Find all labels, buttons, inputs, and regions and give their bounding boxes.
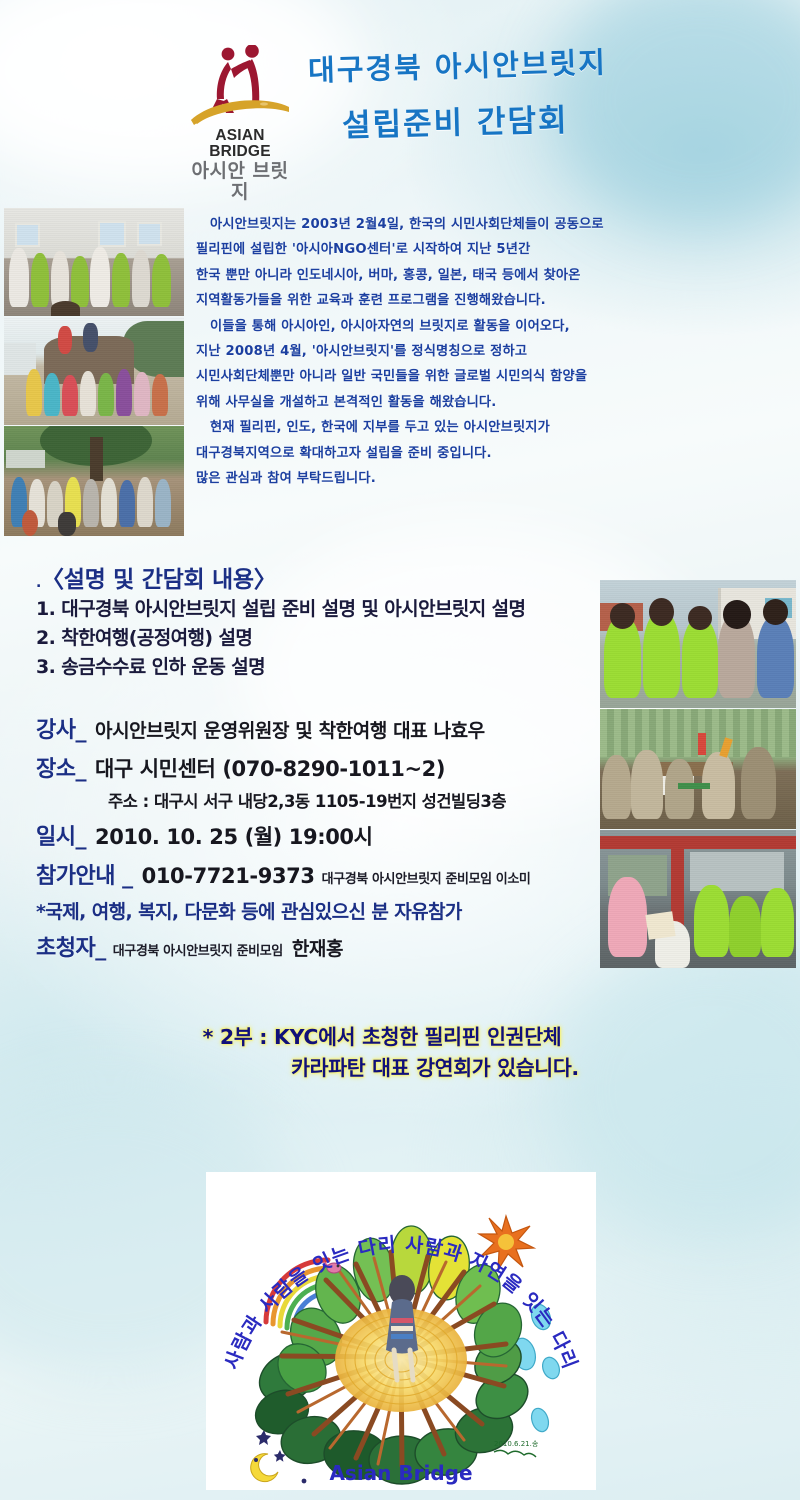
intro-line: 지역활동가들을 위한 교육과 훈련 프로그램을 진행해왔습니다. xyxy=(196,288,796,313)
poster-root: ASIAN BRIDGE 아시안 브릿지 대구경북 아시안브릿지 설립준비 간담… xyxy=(0,0,800,1500)
inviter-name: 한재홍 xyxy=(292,934,343,961)
detail-row-inviter: 초청자_ 대구경북 아시안브릿지 준비모임 한재홍 xyxy=(36,930,606,962)
heading-text: 〈설명 및 간담회 내용〉 xyxy=(41,567,276,593)
intro-line: 시민사회단체뿐만 아니라 일반 국민들을 위한 글로벌 시민의식 함양을 xyxy=(196,364,796,389)
photo-children-smiling-green-shirts xyxy=(600,580,796,708)
datetime-value: 2010. 10. 25 (월) 19:00시 xyxy=(95,821,373,851)
intro-line: 많은 관심과 참여 부탁드립니다. xyxy=(196,466,796,491)
asian-bridge-logo: ASIAN BRIDGE 아시안 브릿지 xyxy=(186,45,294,173)
venue-label: 장소_ xyxy=(36,751,86,783)
detail-row-venue: 장소_ 대구 시민센터 (070-8290-1011~2) xyxy=(36,751,606,783)
poster-header: ASIAN BRIDGE 아시안 브릿지 대구경북 아시안브릿지 설립준비 간담… xyxy=(0,36,800,176)
event-details: 강사_ 아시안브릿지 운영위원장 및 착한여행 대표 나효우 장소_ 대구 시민… xyxy=(36,712,606,969)
program-item: 3. 송금수수료 인하 운동 설명 xyxy=(36,654,596,681)
detail-row-speaker: 강사_ 아시안브릿지 운영위원장 및 착한여행 대표 나효우 xyxy=(36,712,606,744)
intro-line: 아시안브릿지는 2003년 2월4일, 한국의 시민사회단체들이 공동으로 xyxy=(196,212,796,237)
photo-group-indoor-hands-up xyxy=(4,208,184,316)
venue-value: 대구 시민센터 (070-8290-1011~2) xyxy=(95,753,445,783)
intro-line: 지난 2008년 4월, '아시안브릿지'를 정식명칭으로 정하고 xyxy=(196,339,796,364)
inviter-label: 초청자_ xyxy=(36,930,106,962)
title-line-2: 설립준비 간담회 xyxy=(300,91,721,146)
intro-line: 대구경북지역으로 확대하고자 설립을 준비 중입니다. xyxy=(196,441,796,466)
participation-contact: 대구경북 아시안브릿지 준비모임 이소미 xyxy=(322,868,531,887)
open-participation-notice: *국제, 여행, 복지, 다문화 등에 관심있으신 분 자유참가 xyxy=(36,897,606,924)
asian-bridge-logo-icon xyxy=(186,45,294,127)
intro-line: 필리핀에 설립한 '아시아NGO센터'로 시작하여 지난 5년간 xyxy=(196,237,796,262)
logo-korean-name: 아시안 브릿지 xyxy=(186,161,294,203)
photo-group-under-tree xyxy=(4,426,184,536)
program-item: 2. 착한여행(공정여행) 설명 xyxy=(36,625,596,652)
illustration-bottom-text: Asian Bridge xyxy=(329,1461,472,1485)
title-line-1: 대구경북 아시안브릿지 xyxy=(299,36,720,90)
datetime-label: 일시_ xyxy=(36,819,86,851)
intro-paragraph: 아시안브릿지는 2003년 2월4일, 한국의 시민사회단체들이 공동으로 필리… xyxy=(196,212,796,491)
part-two-notice: * 2부 : KYC에서 초청한 필리핀 인권단체 카라파탄 대표 강연회가 있… xyxy=(0,1022,800,1084)
logo-english-name: ASIAN BRIDGE xyxy=(186,128,294,159)
participation-phone: 010-7721-9373 xyxy=(142,864,315,888)
asian-bridge-illustration: 2010.6.21.송 사람과 사람을 잇는 다리 사람과 자연을 잇는 다리 … xyxy=(206,1172,596,1490)
inviter-org: 대구경북 아시안브릿지 준비모임 xyxy=(113,940,283,959)
photo-group-beach-rocks xyxy=(4,317,184,425)
detail-row-datetime: 일시_ 2010. 10. 25 (월) 19:00시 xyxy=(36,819,606,851)
illustration-signature-date: 2010.6.21.송 xyxy=(494,1440,539,1448)
poster-title: 대구경북 아시안브릿지 설립준비 간담회 xyxy=(300,42,720,141)
speaker-label: 강사_ xyxy=(36,712,86,744)
program-heading: .〈설명 및 간담회 내용〉 xyxy=(36,560,596,594)
intro-line: 한국 뿐만 아니라 인도네시아, 버마, 홍콩, 일본, 태국 등에서 찾아온 xyxy=(196,263,796,288)
program-section: .〈설명 및 간담회 내용〉 1. 대구경북 아시안브릿지 설립 준비 설명 및… xyxy=(36,560,596,681)
speaker-value: 아시안브릿지 운영위원장 및 착한여행 대표 나효우 xyxy=(95,716,485,743)
intro-line: 위해 사무실을 개설하고 본격적인 활동을 해왔습니다. xyxy=(196,390,796,415)
intro-line: 이들을 통해 아시아인, 아시아자연의 브릿지로 활동을 이어오다, xyxy=(196,314,796,339)
intro-line: 현재 필리핀, 인도, 한국에 지부를 두고 있는 아시안브릿지가 xyxy=(196,415,796,440)
part-two-line-1: * 2부 : KYC에서 초청한 필리핀 인권단체 xyxy=(0,1022,800,1053)
venue-address: 주소 : 대구시 서구 내당2,3동 1105-19번지 성건빌딩3층 xyxy=(108,788,606,812)
detail-row-participation: 참가안내 _ 010-7721-9373 대구경북 아시안브릿지 준비모임 이소… xyxy=(36,858,606,890)
photo-children-reading-indoor xyxy=(600,830,796,968)
program-item: 1. 대구경북 아시안브릿지 설립 준비 설명 및 아시안브릿지 설명 xyxy=(36,596,596,623)
photo-children-classroom-desks xyxy=(600,709,796,829)
participation-label: 참가안내 _ xyxy=(36,858,133,890)
part-two-line-2: 카라파탄 대표 강연회가 있습니다. xyxy=(0,1053,800,1084)
